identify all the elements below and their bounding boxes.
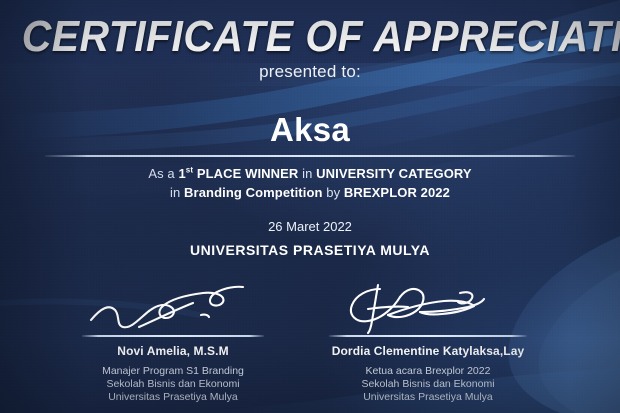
signature-stroke-right	[308, 283, 548, 335]
signatory-role-left-line1: Manajer Program S1 Branding	[53, 365, 293, 378]
signatory-role-right-line3: Universitas Prasetiya Mulya	[308, 391, 548, 404]
signatory-role-left-line2: Sekolah Bisnis dan Ekonomi	[53, 378, 293, 391]
certificate-content: CERTIFICATE OF APPRECIATION presented to…	[0, 0, 620, 413]
signatory-role-right-line2: Sekolah Bisnis dan Ekonomi	[308, 378, 548, 391]
award-competition: Branding Competition	[184, 185, 323, 200]
award-line1-mid: in	[298, 166, 316, 181]
award-line2-prefix: in	[170, 185, 184, 200]
award-line2-mid: by	[323, 185, 344, 200]
recipient-name: Aksa	[0, 112, 620, 148]
award-rank-label: PLACE WINNER	[193, 166, 298, 181]
handwritten-signature-icon	[308, 283, 548, 335]
signature-stroke-left	[53, 283, 293, 335]
certificate-canvas: CERTIFICATE OF APPRECIATION presented to…	[0, 0, 620, 413]
issue-date: 26 Maret 2022	[0, 219, 620, 235]
certificate-title: CERTIFICATE OF APPRECIATION	[22, 14, 599, 60]
award-organizer: BREXPLOR 2022	[344, 185, 450, 200]
presented-to-label: presented to:	[0, 62, 620, 82]
award-rank-number: 1	[178, 166, 185, 181]
award-line1-prefix: As a	[148, 166, 178, 181]
award-line-2: in Branding Competition by BREXPLOR 2022	[0, 183, 620, 202]
award-line-1: As a 1st PLACE WINNER in UNIVERSITY CATE…	[0, 164, 620, 183]
issuing-organization: UNIVERSITAS PRASETIYA MULYA	[0, 241, 620, 259]
signatory-name-left: Novi Amelia, M.S.M	[53, 344, 293, 359]
signature-line-left	[82, 335, 264, 337]
recipient-divider-line	[45, 155, 575, 157]
signatory-role-left-line3: Universitas Prasetiya Mulya	[53, 391, 293, 404]
award-description: As a 1st PLACE WINNER in UNIVERSITY CATE…	[0, 164, 620, 202]
signatory-role-right-line1: Ketua acara Brexplor 2022	[308, 365, 548, 378]
signature-block-left: Novi Amelia, M.S.M Manajer Program S1 Br…	[53, 283, 293, 404]
signatory-role-left: Manajer Program S1 Branding Sekolah Bisn…	[53, 365, 293, 404]
signatory-role-right: Ketua acara Brexplor 2022 Sekolah Bisnis…	[308, 365, 548, 404]
signature-line-right	[329, 335, 527, 337]
handwritten-signature-icon	[53, 283, 293, 335]
signatory-name-right: Dordia Clementine Katylaksa,Lay	[308, 344, 548, 359]
signature-block-right: Dordia Clementine Katylaksa,Lay Ketua ac…	[308, 283, 548, 404]
award-rank-suffix: st	[186, 166, 193, 175]
award-category: UNIVERSITY CATEGORY	[316, 166, 472, 181]
